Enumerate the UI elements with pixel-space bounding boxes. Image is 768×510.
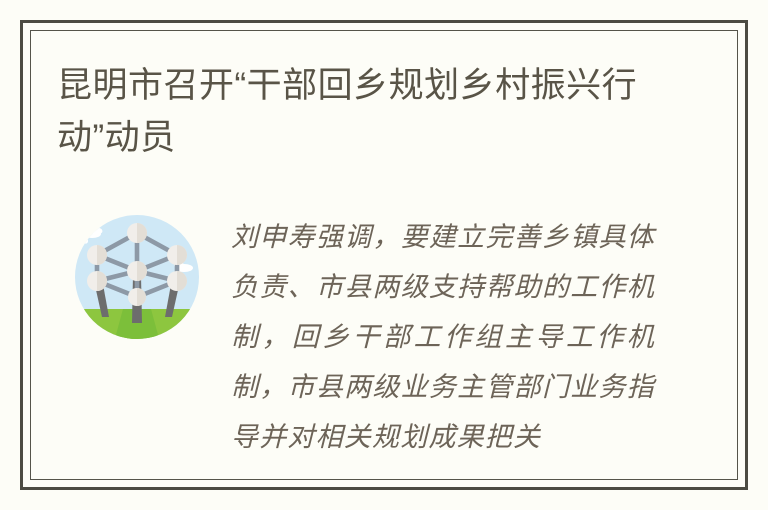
article-card: 昆明市召开“干部回乡规划乡村振兴行动”动员 — [0, 0, 768, 510]
atomium-monument-illustration — [71, 205, 203, 353]
article-body: 刘申寿强调，要建立完善乡镇具体负责、市县两级支持帮助的工作机制，回乡干部工作组主… — [231, 212, 655, 462]
page-title: 昆明市召开“干部回乡规划乡村振兴行动”动员 — [57, 60, 677, 164]
